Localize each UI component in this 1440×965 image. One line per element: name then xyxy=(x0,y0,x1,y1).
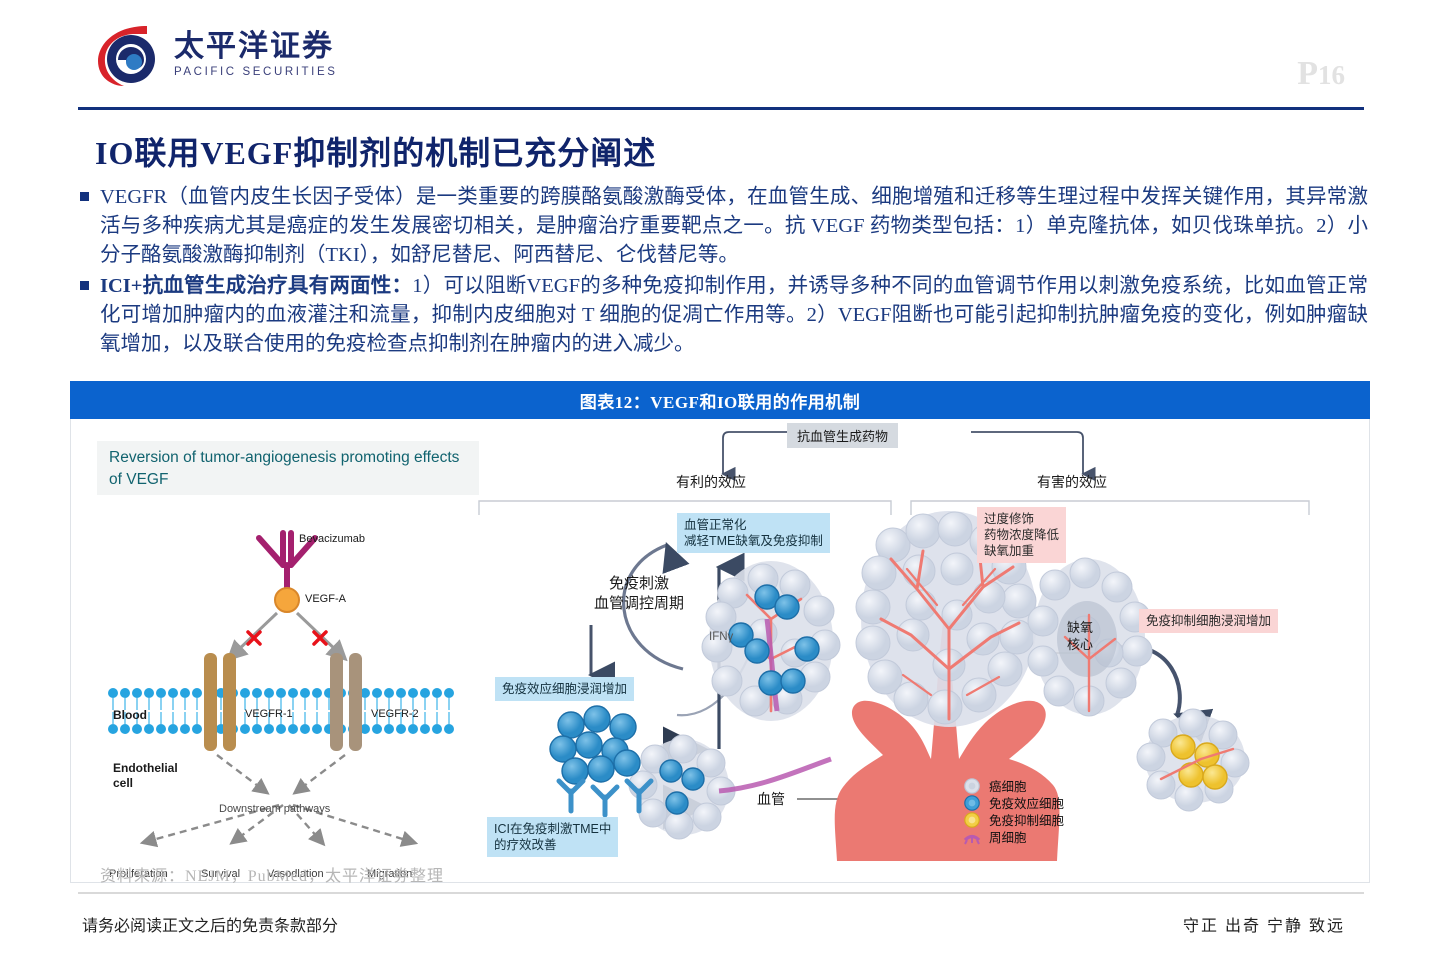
pacific-securities-logo-icon xyxy=(90,18,162,90)
legend-item-suppressive-cell: 免疫抑制细胞 xyxy=(963,811,1064,828)
left-figure-label-blood: Blood xyxy=(113,708,147,722)
vessel-label: 血管 xyxy=(757,789,785,809)
slide-page: 太平洋证券 PACIFIC SECURITIES P16 IO联用VEGF抑制剂… xyxy=(0,0,1440,965)
page-header: 太平洋证券 PACIFIC SECURITIES P16 xyxy=(0,0,1440,108)
vegf-receptor-diagram xyxy=(87,493,487,903)
tumor-far-right-suppressive xyxy=(1137,709,1249,811)
logo-company-name-cn: 太平洋证券 xyxy=(174,30,338,63)
left-figure-label-endothelial: Endothelial cell xyxy=(113,761,193,791)
company-logo: 太平洋证券 PACIFIC SECURITIES xyxy=(90,18,338,90)
bullet-lead-2: ICI+抗血管生成治疗具有两面性： xyxy=(100,275,412,297)
immune-stimulation-cycle-label: 免疫刺激 血管调控周期 xyxy=(579,574,699,614)
ifn-gamma-label: IFNγ xyxy=(709,631,733,643)
hypoxic-core-label: 缺氧 核心 xyxy=(1067,619,1093,653)
left-figure-label-vegfr2: VEGFR-2 xyxy=(371,708,419,720)
legend-label-pericyte: 周细胞 xyxy=(989,827,1027,846)
bullet-square-icon xyxy=(80,281,89,290)
tag-vessel-normalization: 血管正常化 减轻TME缺氧及免疫抑制 xyxy=(677,513,830,553)
footer-disclaimer: 请务必阅读正文之后的免责条款部分 xyxy=(82,912,338,936)
tumor-lower-left xyxy=(629,735,831,839)
branch-label-harmful: 有害的效应 xyxy=(1037,472,1107,492)
logo-company-name-en: PACIFIC SECURITIES xyxy=(174,66,338,78)
left-figure-label-downstream: Downstream pathways xyxy=(219,803,330,815)
page-title: IO联用VEGF抑制剂的机制已充分阐述 xyxy=(95,128,656,174)
page-number-value: 16 xyxy=(1318,60,1345,90)
left-figure-label-vegfr1: VEGFR-1 xyxy=(245,708,293,720)
tag-suppressive-infiltration: 免疫抑制细胞浸润增加 xyxy=(1139,609,1278,633)
source-note: 资料来源：NEJM，PubMed，太平洋证券整理 xyxy=(100,862,444,886)
left-figure-title: Reversion of tumor-angiogenesis promotin… xyxy=(97,441,479,495)
bullet-list: VEGFR（血管内皮生长因子受体）是一类重要的跨膜酪氨酸激酶受体，在血管生成、细… xyxy=(78,183,1368,361)
legend-item-pericyte: 周细胞 xyxy=(963,828,1064,845)
legend-item-effector-cell: 免疫效应细胞 xyxy=(963,794,1064,811)
right-figure: 抗血管生成药物 有利的效应 有害的效应 免疫刺激 血管调控周期 IFNγ 血管正… xyxy=(471,419,1371,883)
page-number: P16 xyxy=(1297,55,1345,93)
pericyte-icon xyxy=(963,829,981,845)
legend-item-tumor-cell: 癌细胞 xyxy=(963,777,1064,794)
bullet-text-1: VEGFR（血管内皮生长因子受体）是一类重要的跨膜酪氨酸激酶受体，在血管生成、细… xyxy=(100,186,1368,266)
mechanism-diagram xyxy=(471,419,1371,883)
left-figure-label-bevacizumab: Bevacizumab xyxy=(299,533,365,545)
bullet-item-1: VEGFR（血管内皮生长因子受体）是一类重要的跨膜酪氨酸激酶受体，在血管生成、细… xyxy=(78,183,1368,270)
page-number-prefix: P xyxy=(1297,55,1318,92)
left-figure-label-vegfa: VEGF-A xyxy=(305,593,346,605)
figure-legend: 癌细胞 免疫效应细胞 免疫抑制细胞 xyxy=(963,777,1064,845)
bullet-item-2: ICI+抗血管生成治疗具有两面性：1）可以阻断VEGF的多种免疫抑制作用，并诱导… xyxy=(78,272,1368,359)
tumor-cell-icon xyxy=(963,778,981,794)
exhibit-header: 图表12：VEGF和IO联用的作用机制 xyxy=(70,381,1370,419)
bullet-square-icon xyxy=(80,192,89,201)
immune-cell-cluster xyxy=(550,706,640,784)
branch-label-beneficial: 有利的效应 xyxy=(676,472,746,492)
anti-angiogenic-drug-tag: 抗血管生成药物 xyxy=(787,423,898,448)
exhibit-body: Reversion of tumor-angiogenesis promotin… xyxy=(70,419,1370,883)
tag-excess-pruning: 过度修饰 药物浓度降低 缺氧加重 xyxy=(977,507,1066,563)
left-figure: Reversion of tumor-angiogenesis promotin… xyxy=(87,431,487,851)
tag-effector-infiltration: 免疫效应细胞浸润增加 xyxy=(495,677,634,701)
suppressive-cell-icon xyxy=(963,812,981,828)
footer-divider xyxy=(78,892,1364,894)
effector-cell-icon xyxy=(963,795,981,811)
footer-slogan: 守正 出奇 宁静 致远 xyxy=(1183,912,1345,936)
header-divider xyxy=(78,107,1364,110)
tag-ici-efficacy: ICI在免疫刺激TME中 的疗效改善 xyxy=(487,817,618,857)
